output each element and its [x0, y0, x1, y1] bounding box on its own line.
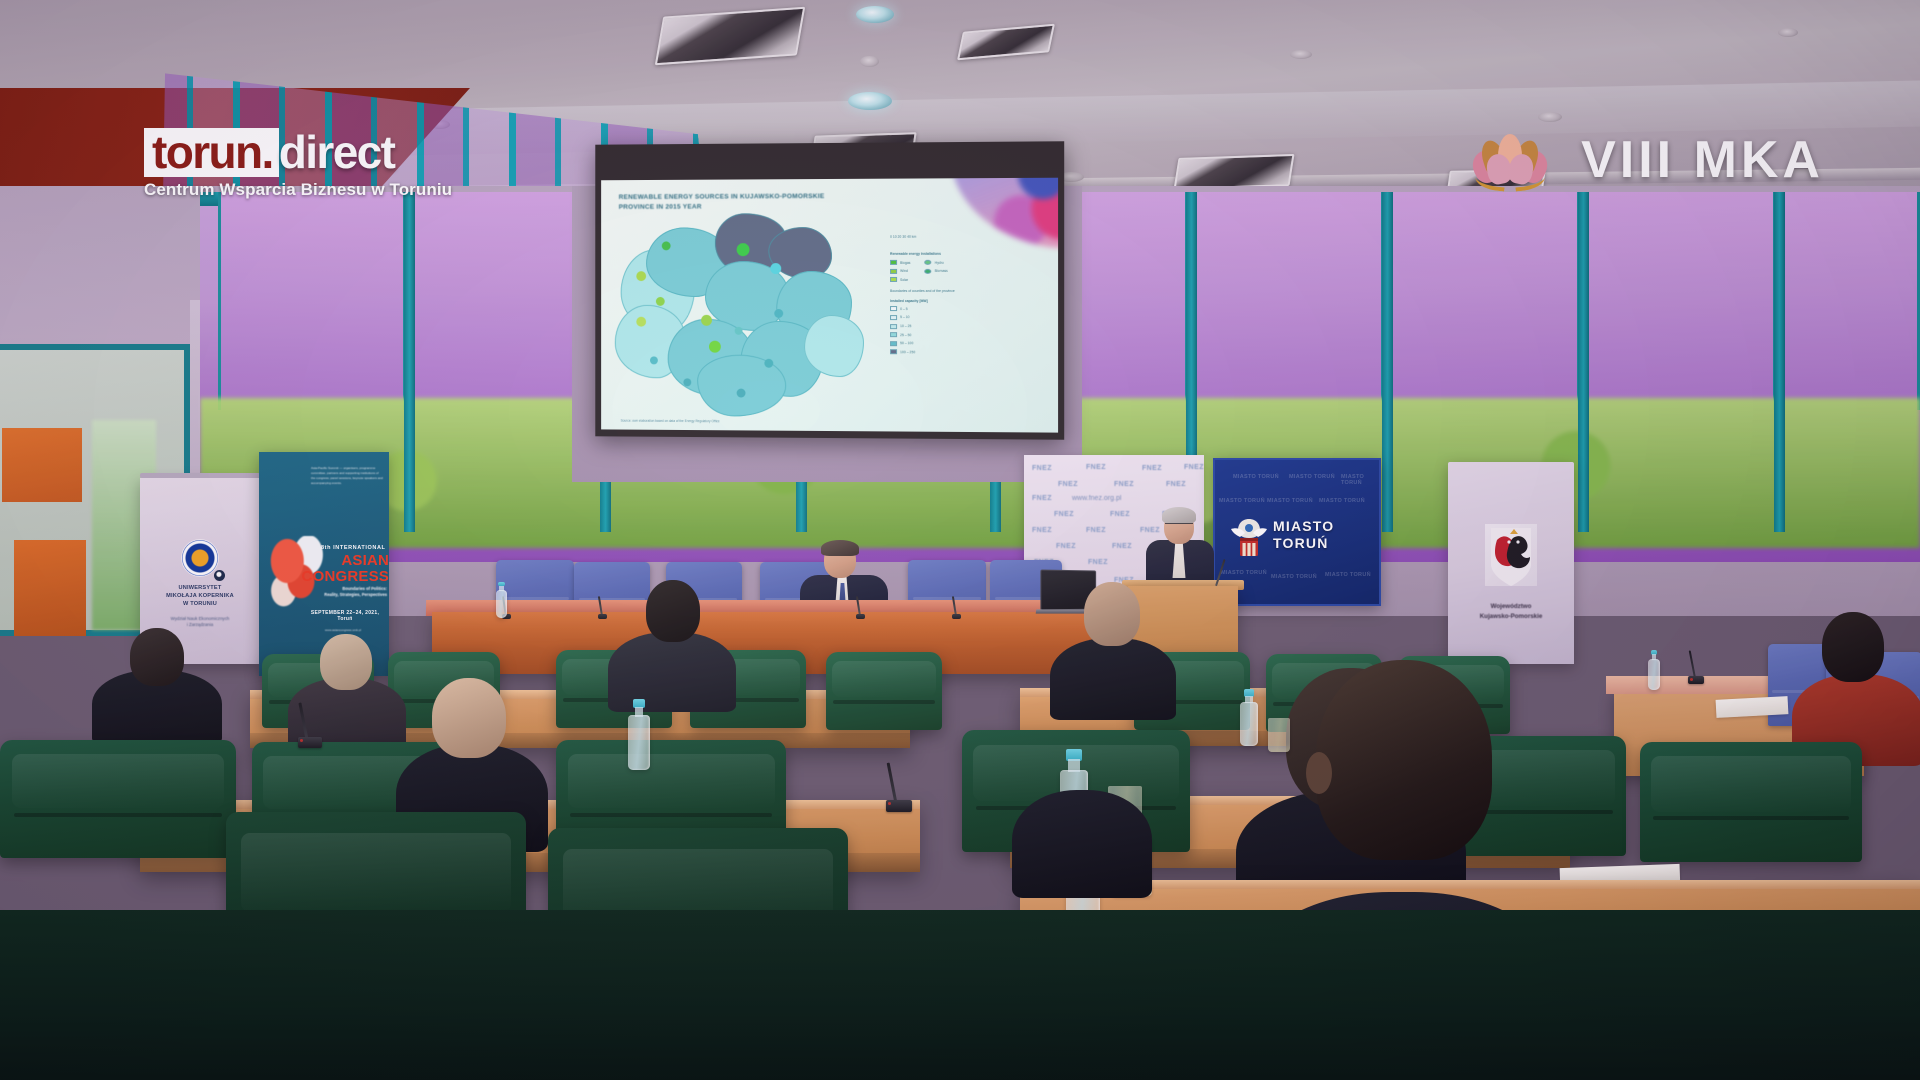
legend-class-item: 25 – 50 — [890, 332, 1042, 339]
map-marker — [737, 243, 750, 256]
audience-member — [92, 620, 222, 740]
brand-name-box: torun. — [144, 128, 279, 177]
window-blind — [1586, 192, 1776, 410]
window-blind — [1390, 192, 1580, 410]
fnez-mark: FNEZ — [1088, 559, 1108, 566]
voivodeship-name: Województwo Kujawsko-Pomorskie — [1448, 602, 1574, 621]
speaker-hair — [1162, 507, 1196, 524]
fnez-mark: FNEZ — [1032, 527, 1052, 534]
legend-class-item: 50 – 100 — [890, 340, 1042, 347]
fnez-mark: FNEZ — [1056, 543, 1076, 550]
water-bottle — [496, 582, 507, 618]
slide-source-note: Source: own elaboration based on data of… — [621, 419, 720, 424]
congress-title-line1: ASIAN — [301, 553, 389, 569]
mic-indicator-led — [1690, 678, 1693, 681]
fnez-mark: FNEZ — [1166, 481, 1186, 488]
legend-swatch — [890, 315, 897, 320]
slide-map — [611, 209, 878, 420]
legend-label: Solar — [900, 277, 908, 283]
head-table-microphone — [952, 592, 962, 616]
fnez-mark: FNEZ — [1114, 481, 1134, 488]
left-door-orange-panel — [2, 428, 82, 502]
window-mullion — [1578, 192, 1589, 532]
banner-tile-text: MIASTO TORUŃ — [1271, 574, 1317, 580]
map-marker — [709, 341, 721, 353]
recessed-downlight — [1290, 50, 1312, 59]
brand-name-primary: torun — [152, 126, 262, 178]
audience-member — [1012, 712, 1152, 892]
congress-title: ASIAN CONGRESS — [301, 553, 389, 584]
congress-subtitle: Boundaries of Politics: Reality, Strateg… — [311, 586, 387, 598]
speaker-glasses-icon — [1165, 523, 1193, 528]
legend-item: Biogas — [890, 260, 910, 266]
podium-microphone — [1212, 556, 1222, 586]
legend-swatch — [890, 332, 897, 337]
voivodeship-line1: Województwo — [1448, 602, 1574, 612]
lotus-stem-right-icon — [1514, 174, 1545, 191]
banner-tile-text: MIASTO TORUŃ — [1319, 498, 1365, 504]
lotus-stem-left-icon — [1474, 174, 1505, 191]
banner-tile-text: MIASTO TORUŃ — [1325, 572, 1371, 578]
map-marker — [636, 271, 646, 281]
map-marker — [636, 317, 646, 327]
map-marker — [683, 378, 691, 386]
university-line3: W TORUNIU — [140, 600, 260, 608]
legend-swatch — [890, 277, 897, 282]
watermark-viii-mka: VIII MKA — [1473, 130, 1824, 190]
slide-decorative-blob — [950, 178, 1058, 249]
congress-subtitle-line2: Reality, Strategies, Perspectives — [311, 592, 387, 598]
audience-chair — [0, 740, 236, 858]
legend-label: 50 – 100 — [900, 340, 913, 346]
mic-base — [1688, 676, 1704, 684]
audience-shoulders — [1012, 790, 1152, 898]
hvac-ceiling-vent — [957, 24, 1055, 61]
kujawsko-pomorskie-coat-of-arms-icon — [1485, 524, 1537, 586]
map-marker — [735, 327, 743, 335]
banner-voivodeship: Województwo Kujawsko-Pomorskie — [1448, 462, 1574, 664]
water-bottle — [628, 700, 650, 770]
audience-head — [646, 580, 700, 642]
bottle-body — [496, 590, 507, 618]
watermark-torun-direct: torun. direct Centrum Wsparcia Biznesu w… — [144, 128, 452, 200]
banner-tile-text: MIASTO TORUŃ — [1289, 474, 1335, 480]
window-blind — [1782, 192, 1920, 410]
window-blind — [218, 192, 406, 410]
window-blind — [1194, 192, 1384, 410]
lotus-flower-icon — [1473, 130, 1547, 190]
legend-item: Hydro — [925, 260, 948, 266]
brand-name-dot: . — [262, 126, 273, 178]
window-mullion — [404, 192, 415, 532]
legend-class-item: 100 – 250 — [890, 349, 1042, 356]
hvac-ceiling-vent — [1173, 154, 1294, 190]
legend-label: 5 – 10 — [900, 315, 909, 321]
congress-body-text: Asia-Pacific Summit — organisers, progra… — [311, 466, 383, 486]
legend-label: 10 – 25 — [900, 323, 911, 329]
slide-legend: Renewable energy installations Biogas Wi… — [890, 251, 1042, 359]
map-marker — [662, 241, 671, 250]
projection-screen-surface: RENEWABLE ENERGY SOURCES IN KUJAWSKO-POM… — [601, 178, 1058, 433]
fnez-mark: FNEZ — [1086, 464, 1106, 471]
umk-logo-satellite-icon — [214, 570, 225, 581]
audience-head — [130, 628, 184, 686]
head-table-microphone — [856, 592, 866, 616]
desk-microphone — [298, 700, 320, 748]
legend-class-item: 5 – 10 — [890, 315, 1042, 321]
mic-base — [598, 614, 607, 619]
recessed-downlight — [1778, 28, 1798, 37]
rollup-top-bar — [140, 473, 260, 478]
fnez-mark: FNEZ — [1032, 495, 1052, 502]
audience-member — [1050, 580, 1176, 714]
university-line2: MIKOŁAJA KOPERNIKA — [140, 592, 260, 600]
window-mullion — [1774, 192, 1785, 532]
legend-label: Biomass — [935, 268, 948, 274]
map-marker — [737, 389, 746, 398]
mic-base — [952, 614, 961, 619]
legend-item: Biomass — [925, 268, 948, 274]
legend-swatch — [890, 269, 897, 274]
university-name: UNIWERSYTET MIKOŁAJA KOPERNIKA W TORUNIU — [140, 584, 260, 608]
legend-label: 25 – 50 — [900, 332, 911, 338]
audience-chair — [1640, 742, 1862, 862]
audience-member — [608, 576, 736, 706]
fnez-mark: FNEZ — [1142, 465, 1162, 472]
mic-indicator-led — [888, 802, 891, 805]
legend-boundary-note: Boundaries of counties and of the provin… — [890, 288, 1042, 294]
banner-tile-text: MIASTO TORUŃ — [1233, 474, 1279, 480]
map-marker — [770, 263, 781, 274]
banner-tile-text: MIASTO TORUŃ — [1341, 474, 1379, 486]
recessed-downlight — [856, 6, 894, 23]
watermark-label: VIII MKA — [1581, 134, 1824, 186]
water-bottle — [1648, 650, 1660, 690]
audience-head — [1316, 660, 1492, 860]
legend-label: 0 – 5 — [900, 306, 908, 312]
floor — [0, 910, 1920, 1080]
hvac-ceiling-vent — [655, 7, 805, 66]
legend-swatch — [925, 260, 932, 265]
audience-shoulders — [1050, 638, 1176, 720]
legend-label: Biogas — [900, 260, 910, 266]
banner-city-line2: TORUŃ — [1273, 535, 1334, 552]
recessed-downlight — [860, 56, 879, 67]
recessed-downlight — [1538, 112, 1562, 122]
bottle-body — [1648, 659, 1660, 690]
legend-class-heading: Installed capacity [MW] — [890, 298, 1042, 304]
bottle-body — [628, 715, 650, 770]
water-bottle — [1240, 690, 1258, 746]
legend-class-item: 10 – 25 — [890, 323, 1042, 330]
audience-head — [432, 678, 506, 758]
audience-head — [320, 634, 372, 690]
mic-base — [298, 737, 322, 748]
banner-tile-text: MIASTO TORUŃ — [1221, 570, 1267, 576]
torun-coat-of-arms-icon — [1229, 516, 1269, 560]
audience-member — [1792, 612, 1920, 762]
desk-microphone — [886, 760, 910, 812]
umk-circular-logo-icon — [182, 540, 218, 576]
congress-title-line2: CONGRESS — [301, 569, 389, 585]
fnez-url: www.fnez.org.pl — [1072, 495, 1121, 502]
legend-swatch — [925, 269, 932, 274]
map-marker — [774, 309, 783, 318]
window-mullion — [1382, 192, 1393, 532]
map-marker — [650, 356, 658, 364]
projection-screen: RENEWABLE ENERGY SOURCES IN KUJAWSKO-POM… — [595, 141, 1064, 439]
legend-swatch — [890, 341, 897, 346]
university-line1: UNIWERSYTET — [140, 584, 260, 592]
fnez-mark: FNEZ — [1112, 543, 1132, 550]
desk-microphone — [1688, 648, 1706, 684]
mic-base — [856, 614, 865, 619]
audience-ear — [1306, 752, 1332, 794]
banner-tile-text: MIASTO TORUŃ — [1267, 498, 1313, 504]
fnez-mark: FNEZ — [1032, 465, 1052, 472]
brand-name-secondary: direct — [279, 126, 395, 178]
mic-indicator-led — [300, 739, 303, 742]
congress-dates: SEPTEMBER 22–24, 2021, Toruń — [303, 610, 387, 622]
congress-edition: 8th INTERNATIONAL — [321, 545, 385, 551]
legend-class-item: 0 – 5 — [890, 306, 1042, 312]
legend-label: 100 – 250 — [900, 349, 915, 355]
legend-swatch — [890, 350, 897, 355]
panelist-hair — [821, 540, 859, 556]
banner-city-text: MIASTO TORUŃ — [1273, 518, 1334, 552]
banner-city-line1: MIASTO — [1273, 518, 1334, 535]
map-marker — [764, 359, 773, 368]
audience-chair — [826, 652, 942, 730]
fnez-mark: FNEZ — [1110, 511, 1130, 518]
map-marker — [701, 315, 712, 326]
fnez-mark: FNEZ — [1058, 481, 1078, 488]
fnez-mark: FNEZ — [1184, 464, 1204, 471]
audience-head — [1084, 582, 1140, 646]
paper-sheet — [1716, 696, 1789, 718]
legend-label: Wind — [900, 268, 908, 274]
banner-tile-text: MIASTO TORUŃ — [1219, 498, 1265, 504]
recessed-downlight — [848, 92, 892, 110]
legend-swatch — [890, 307, 897, 312]
mic-base — [886, 800, 912, 812]
map-marker — [656, 297, 665, 306]
left-door-orange-panel — [14, 540, 86, 636]
legend-swatch — [890, 324, 897, 329]
head-table-microphone — [598, 592, 608, 616]
brand-lockup: torun. direct — [144, 128, 452, 177]
mic-gooseneck — [1689, 650, 1696, 678]
audience-head — [1822, 612, 1884, 682]
legend-heading: Renewable energy installations — [890, 251, 1042, 258]
legend-item: Wind — [890, 268, 910, 274]
legend-label: Hydro — [935, 260, 944, 266]
brand-tagline: Centrum Wsparcia Biznesu w Toruniu — [144, 180, 452, 200]
conference-hall-photo: RENEWABLE ENERGY SOURCES IN KUJAWSKO-POM… — [0, 0, 1920, 1080]
slide-scale-bar: 0 10 20 30 40 km — [890, 235, 916, 239]
voivodeship-line2: Kujawsko-Pomorskie — [1448, 612, 1574, 622]
legend-swatch — [890, 260, 897, 265]
bottle-body — [1240, 702, 1258, 746]
legend-item: Solar — [890, 277, 910, 283]
fnez-mark: FNEZ — [1054, 511, 1074, 518]
fnez-mark: FNEZ — [1086, 527, 1106, 534]
